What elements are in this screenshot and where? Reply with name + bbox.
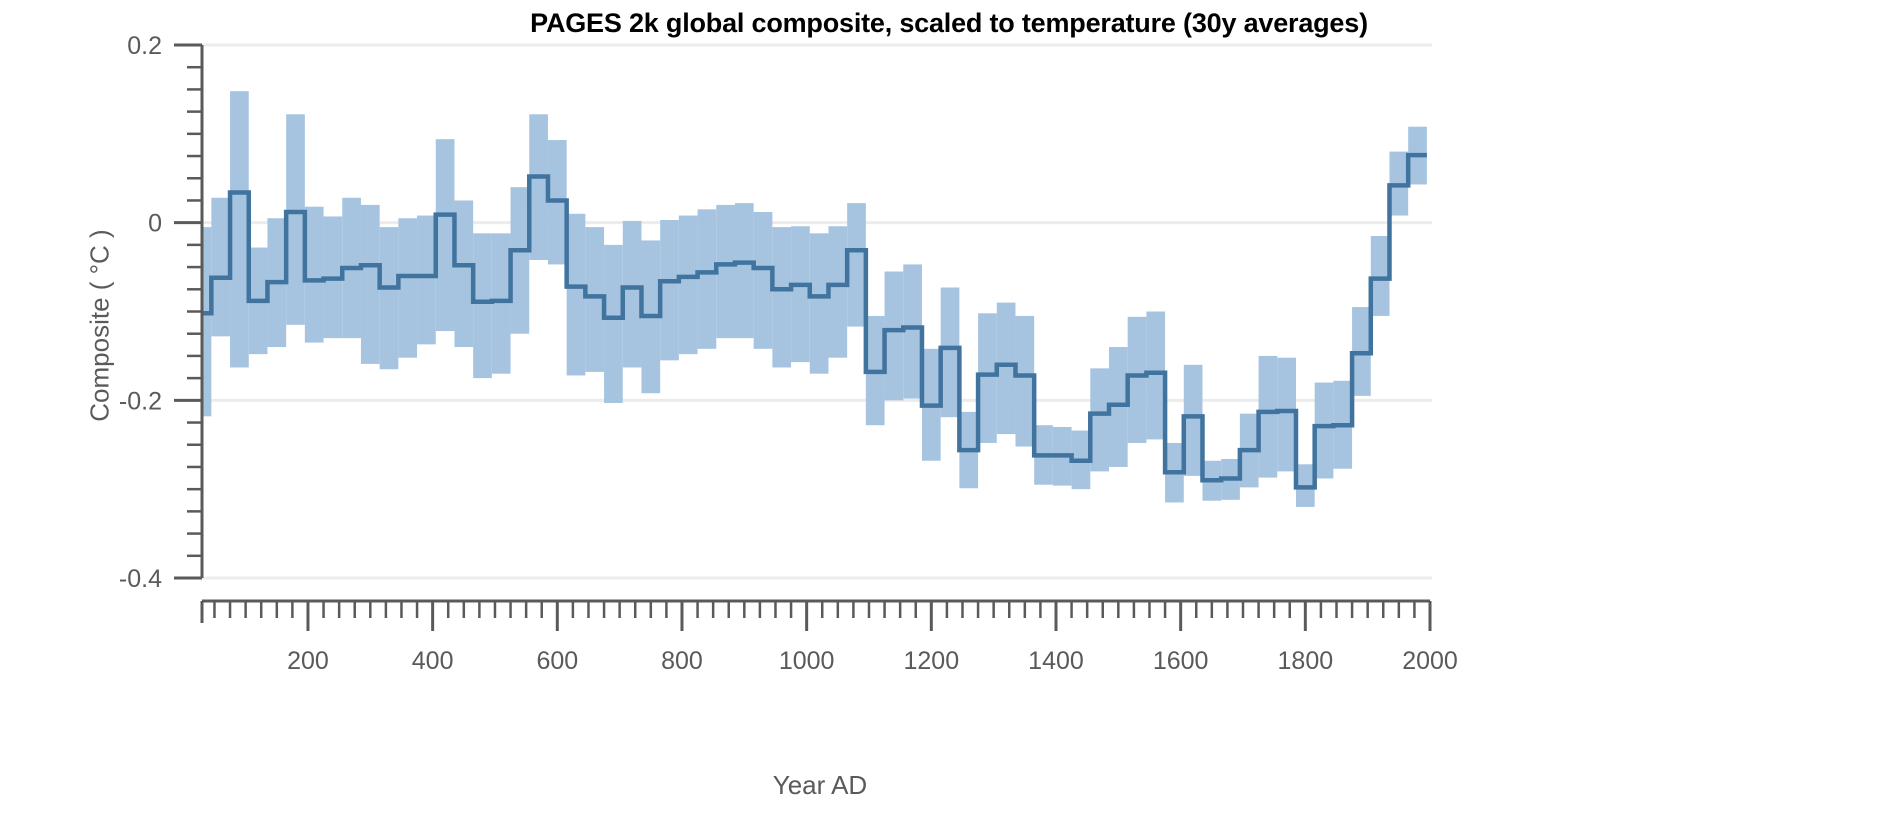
x-tick-label: 1600 [1153, 647, 1209, 675]
chart-figure: PAGES 2k global composite, scaled to tem… [0, 0, 1898, 820]
y-axis-label: Composite ( °C ) [85, 196, 116, 456]
x-tick-label: 1000 [779, 647, 835, 675]
plot-canvas: 200400600800100012001400160018002000 0.2… [0, 0, 1898, 820]
x-tick-label: 1800 [1278, 647, 1334, 675]
y-tick-labels: 0.20-0.2-0.4 [119, 32, 162, 593]
y-tick-label: -0.2 [119, 387, 162, 415]
x-axis-label: Year AD [200, 770, 1440, 801]
y-tick-label: -0.4 [119, 565, 162, 593]
x-tick-label: 800 [661, 647, 703, 675]
y-tick-label: 0.2 [127, 32, 162, 60]
x-tick-label: 400 [412, 647, 454, 675]
y-tick-label: 0 [148, 210, 162, 238]
uncertainty-band [202, 91, 1427, 507]
x-tick-label: 1400 [1028, 647, 1084, 675]
x-tick-label: 200 [287, 647, 329, 675]
x-tick-label: 2000 [1402, 647, 1458, 675]
x-tick-labels: 200400600800100012001400160018002000 [287, 647, 1458, 675]
x-tick-label: 1200 [904, 647, 960, 675]
x-tick-label: 600 [536, 647, 578, 675]
